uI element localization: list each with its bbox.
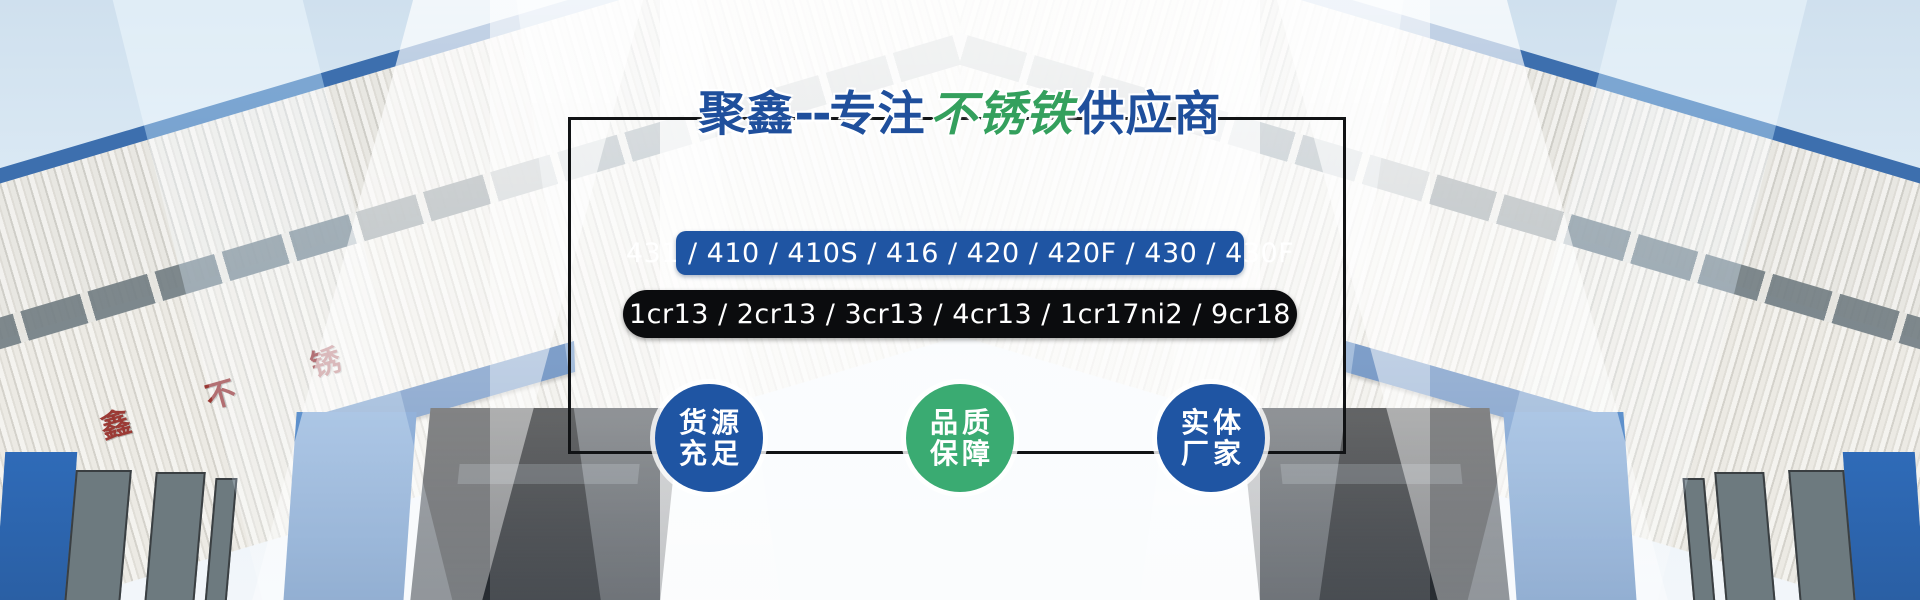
feature-badge-quality: 品质 保障 (906, 384, 1014, 492)
grade-bar-black: 1cr13 / 2cr13 / 3cr13 / 4cr13 / 1cr17ni2… (623, 290, 1297, 338)
feature-badge-factory-line1: 实体 (1177, 407, 1245, 438)
feature-badge-factory-line2: 厂家 (1177, 438, 1245, 469)
grade-bar-black-text: 1cr13 / 2cr13 / 3cr13 / 4cr13 / 1cr17ni2… (629, 299, 1291, 330)
headline-dashes: -- (794, 87, 829, 142)
headline-accent: 不锈铁 (926, 87, 1078, 142)
feature-badge-supply: 货源 充足 (655, 384, 763, 492)
feature-badge-quality-line1: 品质 (926, 407, 994, 438)
feature-badge-factory: 实体 厂家 (1157, 384, 1265, 492)
page-title: 聚鑫--专注不锈铁供应商 (698, 75, 1221, 144)
feature-badge-supply-line1: 货源 (675, 407, 743, 438)
headline-lead: 专注 (830, 87, 926, 142)
feature-badge-quality-line2: 保障 (926, 438, 994, 469)
feature-badges: 货源 充足 品质 保障 实体 厂家 (655, 378, 1265, 498)
promo-banner: 鑫 不 锈 (0, 0, 1920, 600)
grade-bar-blue-text: 431 / 410 / 410S / 416 / 420 / 420F / 43… (626, 238, 1294, 269)
feature-badge-supply-line2: 充足 (675, 438, 743, 469)
headline-row: 聚鑫--专注不锈铁供应商 (0, 78, 1920, 140)
headline-tail: 供应商 (1078, 87, 1222, 142)
grade-bar-blue: 431 / 410 / 410S / 416 / 420 / 420F / 43… (676, 231, 1244, 275)
headline-brand: 聚鑫 (698, 87, 794, 142)
banner-content: 聚鑫--专注不锈铁供应商 431 / 410 / 410S / 416 / 42… (0, 0, 1920, 600)
